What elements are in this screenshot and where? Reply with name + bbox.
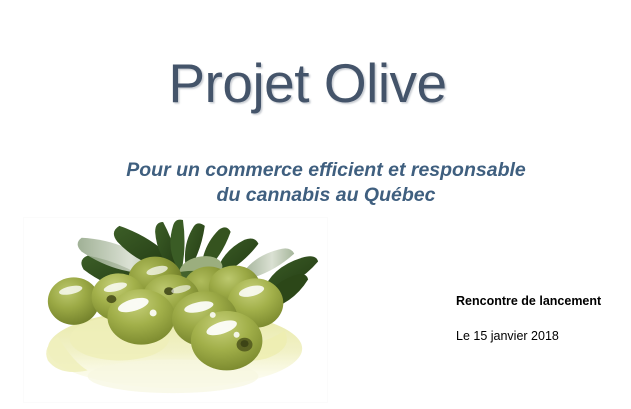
event-meta-block: Rencontre de lancement Le 15 janvier 201…	[456, 294, 624, 344]
slide-subtitle: Pour un commerce efficient et responsabl…	[0, 158, 631, 208]
subtitle-line-1: Pour un commerce efficient et responsabl…	[0, 158, 631, 183]
olive-photo	[23, 217, 328, 403]
subtitle-line-2: du cannabis au Québec	[0, 183, 631, 208]
page-title: Projet Olive	[0, 52, 615, 114]
event-date: Le 15 janvier 2018	[456, 329, 624, 344]
olives-illustration	[24, 218, 327, 402]
slide-canvas: Projet Olive Pour un commerce efficient …	[0, 0, 631, 409]
event-heading: Rencontre de lancement	[456, 294, 624, 309]
